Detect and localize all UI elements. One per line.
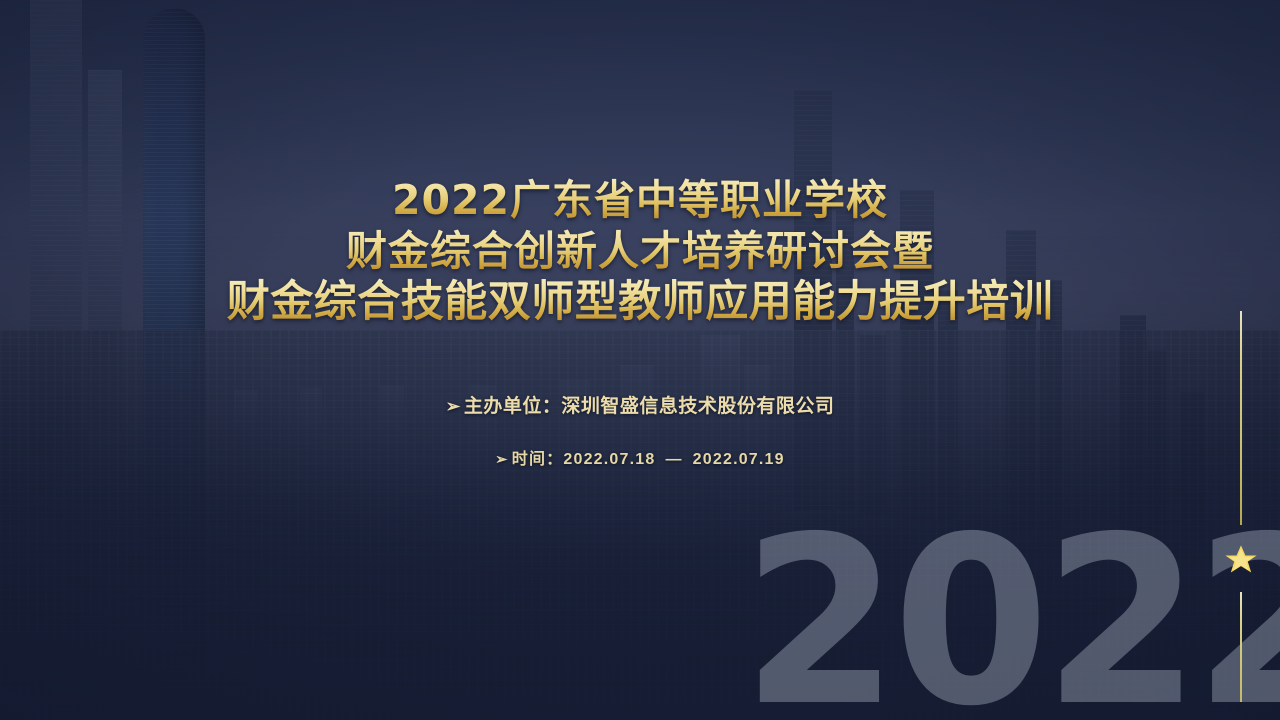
organizer-line: ➢主办单位：深圳智盛信息技术股份有限公司 [0, 391, 1280, 418]
presentation-slide: 2022 2022广东省中等职业学校 财金综合创新人才培养研讨会暨 财金综合技能… [0, 0, 1280, 720]
year-watermark: 2022 [742, 516, 1217, 720]
title-line-3: 财金综合技能双师型教师应用能力提升培训 [0, 277, 1280, 328]
title-line-2: 财金综合创新人才培养研讨会暨 [0, 226, 1280, 277]
arrow-bullet-icon: ➢ [446, 396, 461, 416]
time-end: 2022.07.19 [693, 451, 785, 468]
time-start: 2022.07.18 [563, 451, 655, 468]
gold-rule-top [1240, 311, 1242, 525]
six-point-star-icon [1224, 544, 1258, 578]
time-line: ➢时间：2022.07.18—2022.07.19 [0, 445, 1280, 469]
time-dash: — [655, 451, 692, 469]
time-label: 时间： [512, 451, 564, 468]
gold-rule-bottom [1240, 592, 1242, 702]
organizer-text: 主办单位：深圳智盛信息技术股份有限公司 [464, 396, 835, 417]
title-line-1: 2022广东省中等职业学校 [0, 175, 1280, 226]
slide-title: 2022广东省中等职业学校 财金综合创新人才培养研讨会暨 财金综合技能双师型教师… [0, 175, 1280, 328]
arrow-bullet-icon: ➢ [495, 452, 509, 468]
